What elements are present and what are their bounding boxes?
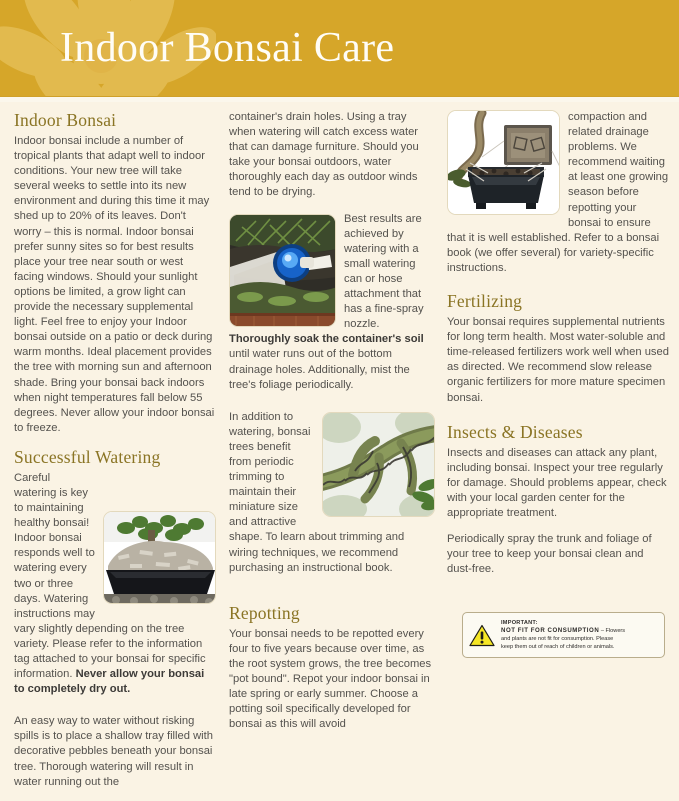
wired-bonsai-branch-photo [322, 412, 435, 517]
heading-indoor-bonsai: Indoor Bonsai [14, 110, 216, 131]
heading-successful-watering: Successful Watering [14, 447, 216, 468]
warning-line-important: IMPORTANT: [501, 619, 625, 627]
heading-fertilizing: Fertilizing [447, 291, 669, 312]
paragraph-fertilizing: Your bonsai requires supplemental nutrie… [447, 315, 669, 406]
paragraph-pebble-tray: An easy way to water without risking spi… [14, 714, 216, 789]
paragraph-repotting: Your bonsai needs to be repotted every f… [229, 627, 435, 733]
paragraph-indoor-bonsai: Indoor bonsai include a number of tropic… [14, 134, 216, 436]
warning-line-3: and plants are not fit for consumption. … [501, 635, 625, 643]
body-content: Indoor Bonsai Indoor bonsai include a nu… [0, 102, 679, 680]
warning-triangle-icon [469, 624, 495, 647]
repotting-bonsai-pot-photo [447, 110, 560, 215]
warning-not-fit-rest: – Flowers [599, 628, 625, 634]
warning-box: IMPORTANT: NOT FIT FOR CONSUMPTION – Flo… [462, 612, 665, 658]
page-header: Indoor Bonsai Care [0, 0, 679, 96]
column-one: Indoor Bonsai Indoor bonsai include a nu… [14, 110, 229, 801]
warning-line-4: keep them out of reach of children or an… [501, 643, 625, 651]
watering-text-block: Careful watering is key to maintaining h… [14, 471, 216, 708]
soak-bold-note: Thoroughly soak the container's soil [229, 333, 424, 345]
trimming-block: In addition to watering, bonsai trees be… [229, 410, 435, 587]
page-title: Indoor Bonsai Care [60, 24, 394, 72]
best-results-text: Best results are achieved by watering wi… [344, 213, 424, 331]
watering-can-nozzle-photo [229, 214, 336, 327]
heading-repotting: Repotting [229, 603, 435, 624]
column-two: container's drain holes. Using a tray wh… [229, 110, 447, 743]
paragraph-insects-diseases: Insects and diseases can attack any plan… [447, 446, 669, 521]
best-results-text-end: until water runs out of the bottom drain… [229, 348, 410, 390]
warning-not-fit-label: NOT FIT FOR CONSUMPTION [501, 627, 599, 634]
three-column-layout: Indoor Bonsai Indoor bonsai include a nu… [14, 110, 669, 801]
bonsai-in-blue-pot-photo [103, 511, 216, 604]
warning-text-block: IMPORTANT: NOT FIT FOR CONSUMPTION – Flo… [501, 619, 625, 651]
compaction-block: compaction and related drainage problems… [447, 110, 669, 287]
warning-line-not-fit: NOT FIT FOR CONSUMPTION – Flowers [501, 627, 625, 635]
column-three: compaction and related drainage problems… [447, 110, 669, 588]
paragraph-drain-holes: container's drain holes. Using a tray wh… [229, 110, 435, 201]
best-results-block: Best results are achieved by watering wi… [229, 212, 435, 404]
paragraph-spray-trunk: Periodically spray the trunk and foliage… [447, 532, 669, 577]
brochure-page: Indoor Bonsai Care Indoor Bonsai Indoor … [0, 0, 679, 679]
heading-insects-diseases: Insects & Diseases [447, 422, 669, 443]
